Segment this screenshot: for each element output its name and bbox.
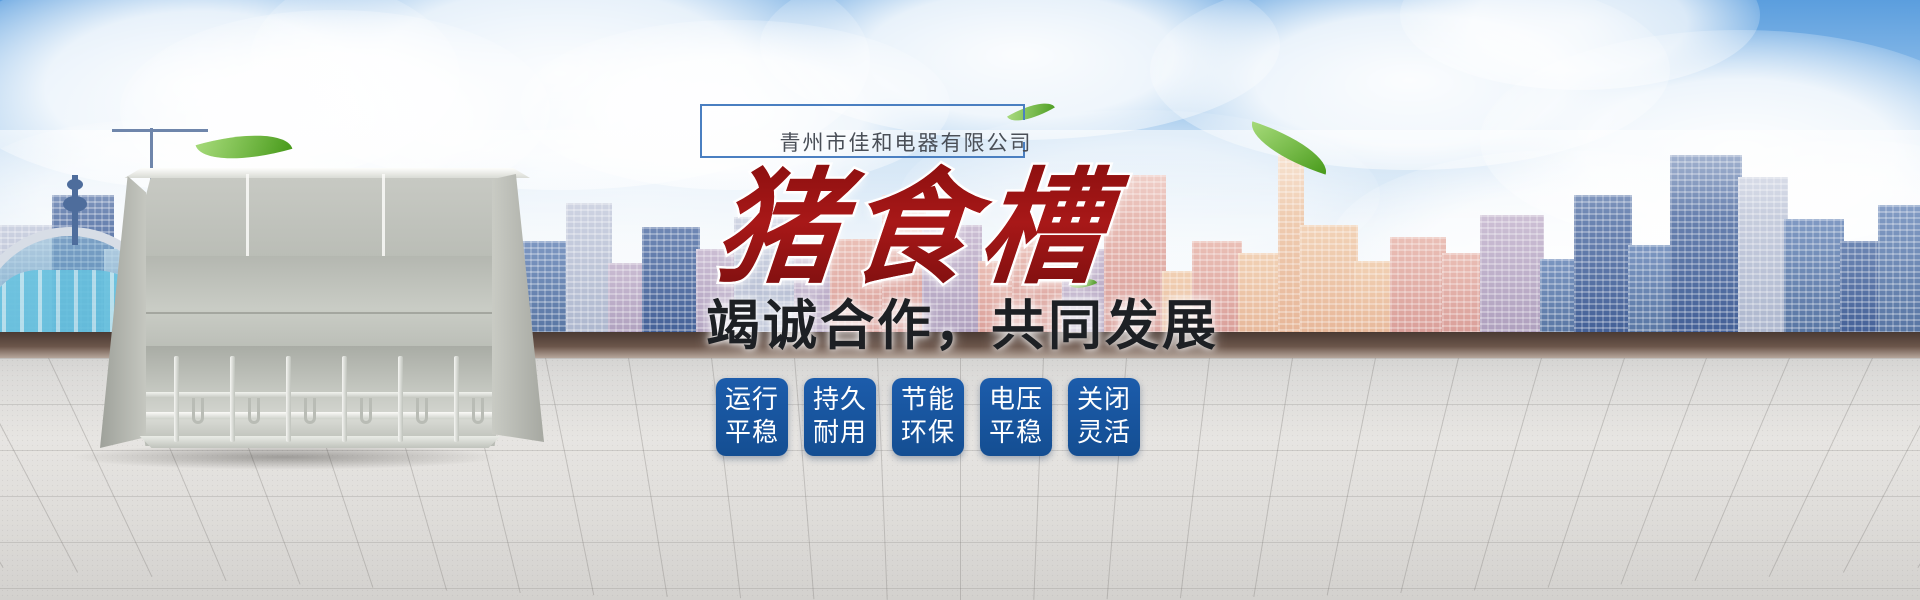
badge-line-1: 电压 [989, 384, 1043, 417]
feature-badge-3[interactable]: 节能环保 [892, 378, 964, 456]
trough-hook [192, 398, 204, 424]
construction-crane-arm [112, 129, 208, 132]
trough-divider-bar [230, 356, 235, 442]
trough-hook [304, 398, 316, 424]
trough-divider-bar [174, 356, 179, 442]
product-title: 猪食槽 [710, 164, 1141, 294]
feature-badge-list: 运行平稳持久耐用节能环保电压平稳关闭灵活 [716, 378, 1140, 456]
feature-badge-1[interactable]: 运行平稳 [716, 378, 788, 456]
trough-divider-bar [342, 356, 347, 442]
banner-subtitle: 竭诚合作，共同发展 [706, 294, 1219, 358]
trough-hook [248, 398, 260, 424]
trough-left-wall [100, 176, 146, 448]
trough-hook [416, 398, 428, 424]
trough-divider-bar [398, 356, 403, 442]
badge-line-1: 关闭 [1077, 384, 1131, 417]
trough-right-wall [492, 174, 544, 442]
trough-back-panel [120, 172, 520, 264]
feature-badge-4[interactable]: 电压平稳 [980, 378, 1052, 456]
company-name-frame-right-top [1023, 104, 1025, 120]
product-image-steel-trough [82, 160, 552, 460]
trough-divider-bar [454, 356, 459, 442]
badge-line-2: 平稳 [725, 417, 779, 450]
badge-line-1: 运行 [725, 384, 779, 417]
trough-hook [360, 398, 372, 424]
feature-badge-2[interactable]: 持久耐用 [804, 378, 876, 456]
feature-badge-5[interactable]: 关闭灵活 [1068, 378, 1140, 456]
trough-divider-bar [286, 356, 291, 442]
trough-seam [246, 174, 249, 256]
trough-top-rim [112, 168, 530, 178]
badge-line-2: 平稳 [989, 417, 1043, 450]
trough-seam [382, 174, 385, 256]
trough-fold-line [138, 312, 498, 314]
badge-line-2: 环保 [901, 417, 955, 450]
tv-tower-sphere-small [67, 179, 83, 190]
trough-hook [472, 398, 484, 424]
banner-copy-block: 青州市佳和电器有限公司 猪食槽 猪食槽 竭诚合作，共同发展 运行平稳持久耐用节能… [690, 96, 1450, 566]
badge-line-2: 灵活 [1077, 417, 1131, 450]
trough-upper-slope [128, 256, 512, 352]
badge-line-2: 耐用 [813, 417, 867, 450]
company-name: 青州市佳和电器有限公司 [756, 127, 1056, 157]
product-banner: 青州市佳和电器有限公司 猪食槽 猪食槽 竭诚合作，共同发展 运行平稳持久耐用节能… [0, 0, 1920, 600]
badge-line-1: 持久 [813, 384, 867, 417]
badge-line-1: 节能 [901, 384, 955, 417]
